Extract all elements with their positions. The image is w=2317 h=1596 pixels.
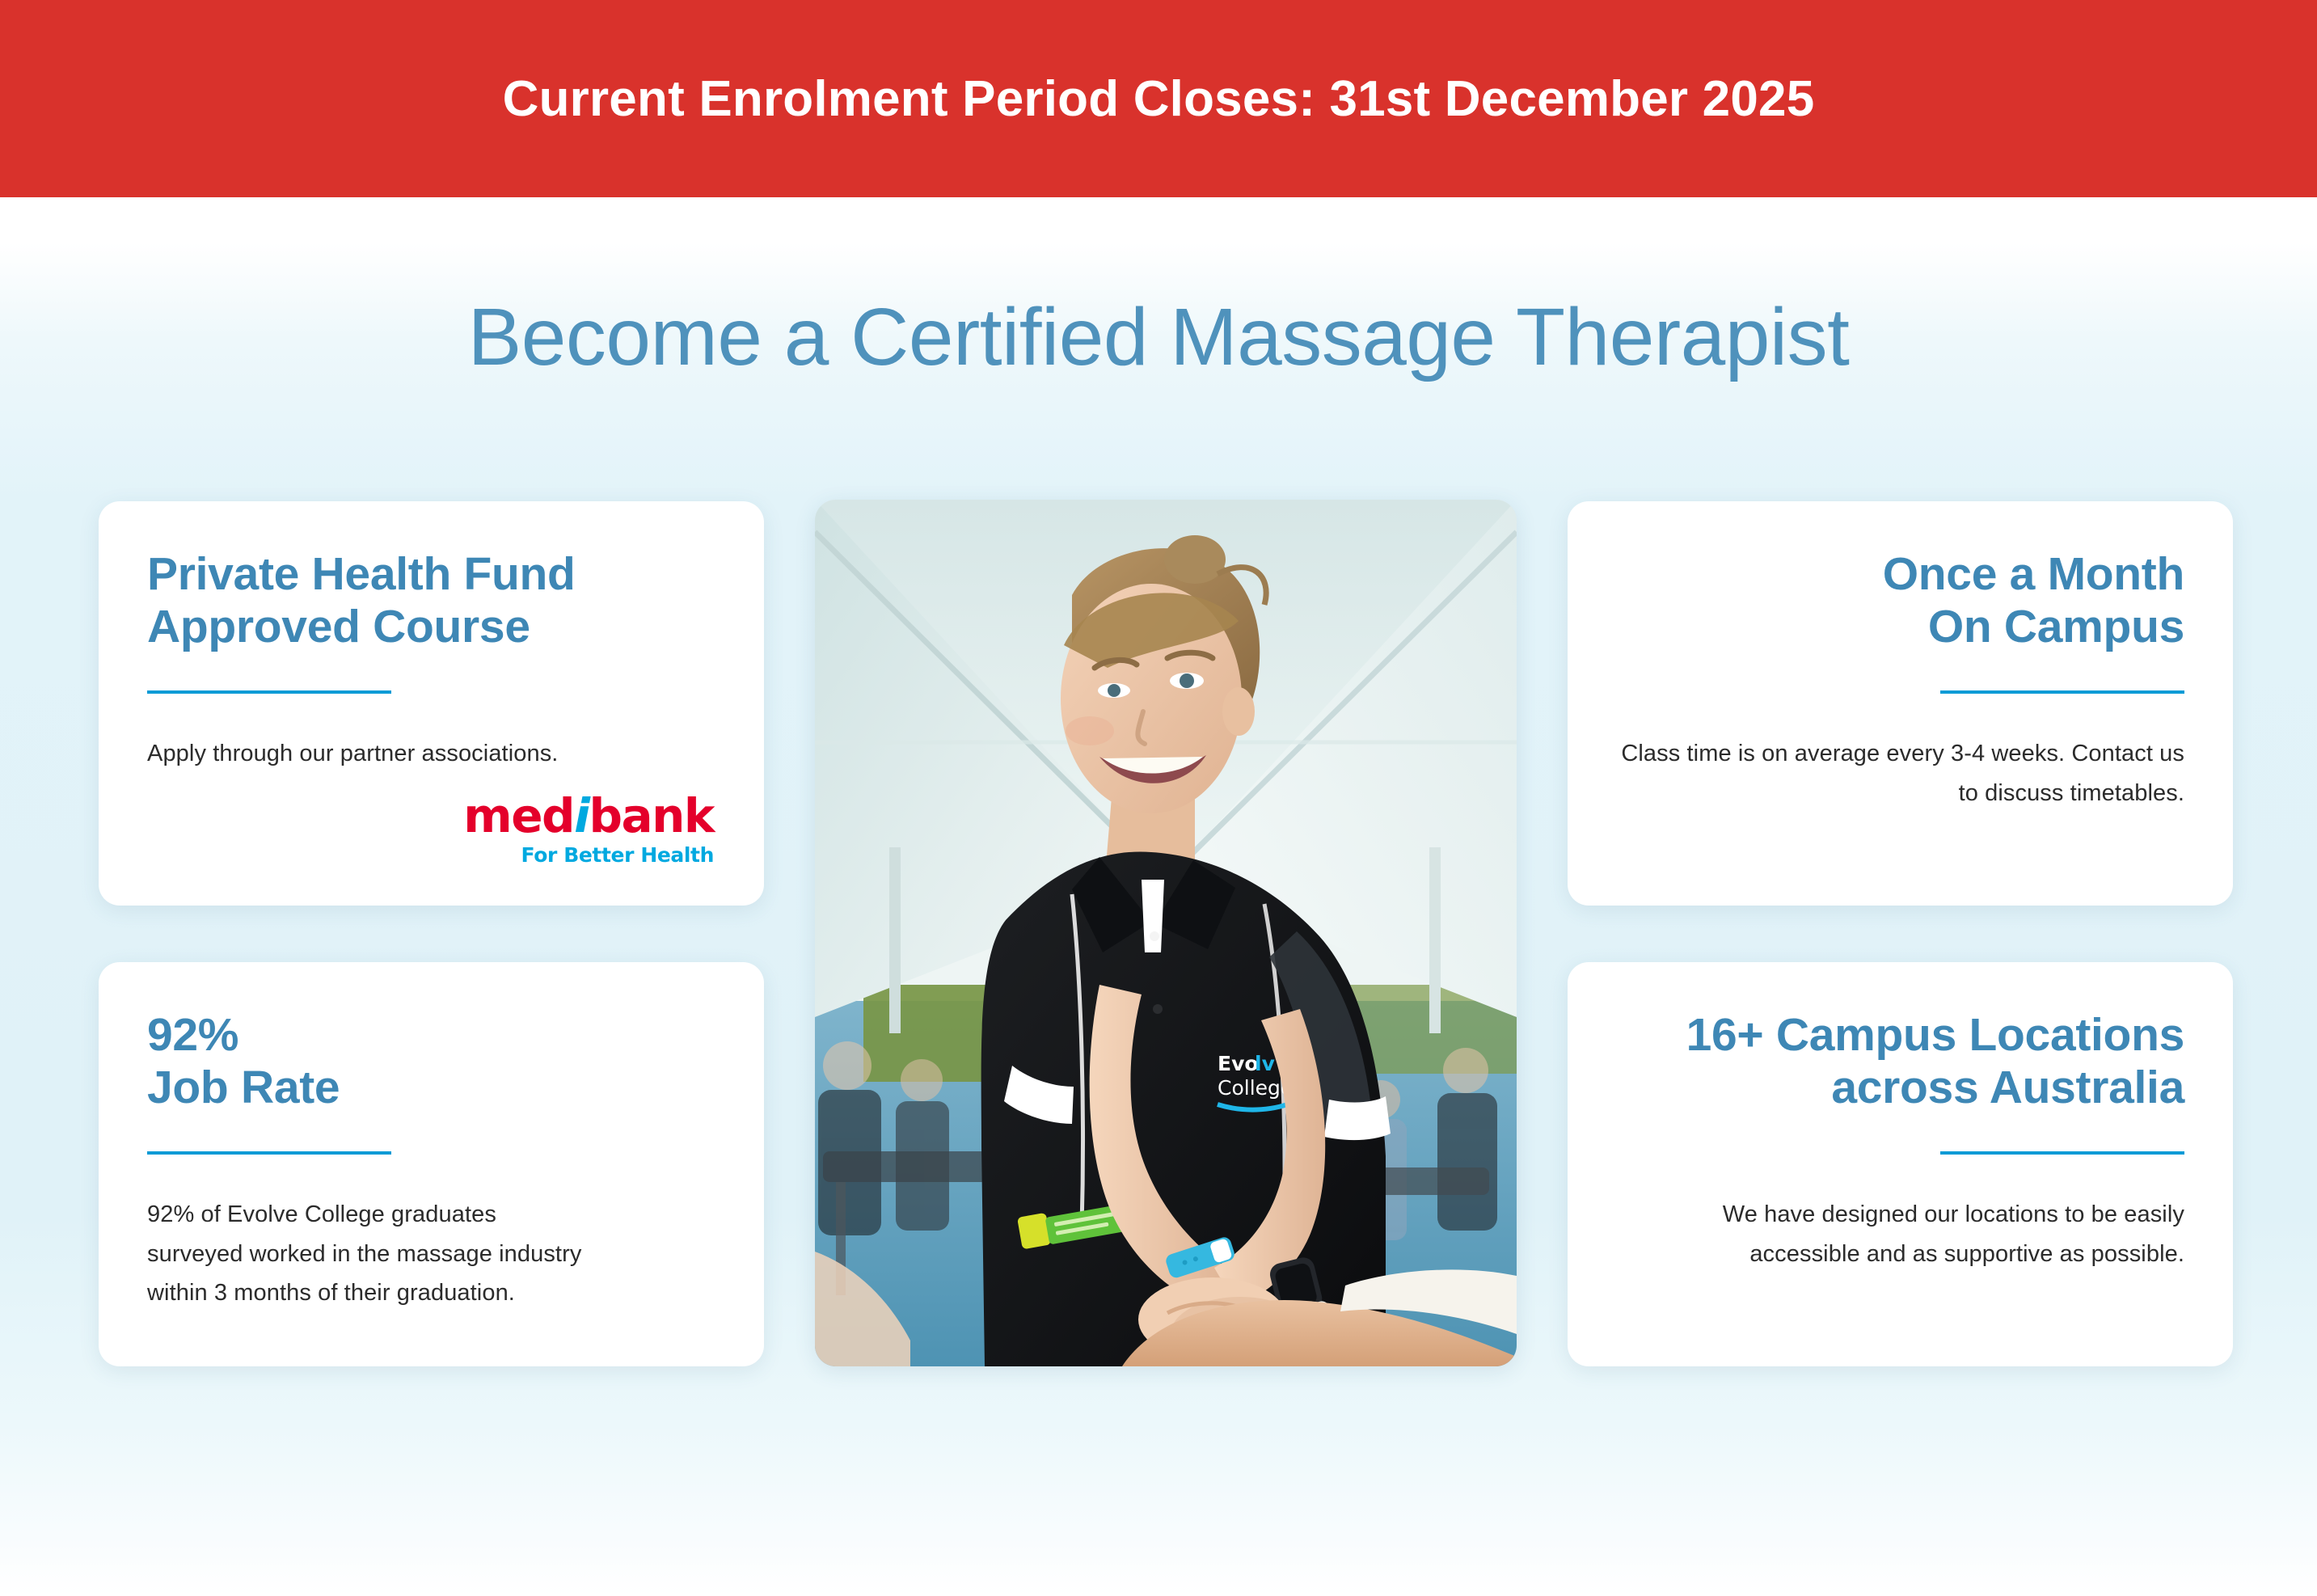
medibank-word-bank: bank (589, 788, 714, 843)
card-private-health-fund: Private Health Fund Approved Course Appl… (99, 501, 764, 906)
page-title: Become a Certified Massage Therapist (0, 291, 2317, 384)
enrolment-banner: Current Enrolment Period Closes: 31st De… (0, 0, 2317, 197)
svg-text:lv: lv (1255, 1052, 1275, 1075)
card-title: Private Health Fund Approved Course (147, 548, 715, 653)
card-body-text: We have designed our locations to be eas… (1691, 1195, 2184, 1273)
medibank-italic-i: i (574, 788, 589, 843)
svg-text:Evo: Evo (1218, 1052, 1259, 1075)
card-body-text: 92% of Evolve College graduates surveyed… (147, 1195, 584, 1313)
card-body-text: Apply through our partner associations. (147, 734, 715, 774)
card-divider (1940, 1151, 2184, 1155)
medibank-word-med: med (463, 788, 574, 843)
card-divider (147, 1151, 391, 1155)
medibank-tagline: For Better Health (463, 845, 714, 865)
medibank-logo: medibank For Better Health (463, 792, 714, 865)
card-campus-locations: 16+ Campus Locations across Australia We… (1568, 962, 2233, 1366)
massage-student-photo: Evo lv e College (815, 500, 1517, 1366)
card-title: 92% Job Rate (147, 1009, 715, 1114)
card-divider (147, 690, 391, 694)
card-title: 16+ Campus Locations across Australia (1616, 1009, 2184, 1114)
card-once-a-month-on-campus: Once a Month On Campus Class time is on … (1568, 501, 2233, 906)
card-title: Once a Month On Campus (1616, 548, 2184, 653)
card-job-rate: 92% Job Rate 92% of Evolve College gradu… (99, 962, 764, 1366)
card-body-text: Class time is on average every 3-4 weeks… (1619, 734, 2184, 813)
medibank-wordmark: medibank (463, 792, 714, 839)
card-divider (1940, 690, 2184, 694)
enrolment-banner-text: Current Enrolment Period Closes: 31st De… (503, 70, 1815, 128)
